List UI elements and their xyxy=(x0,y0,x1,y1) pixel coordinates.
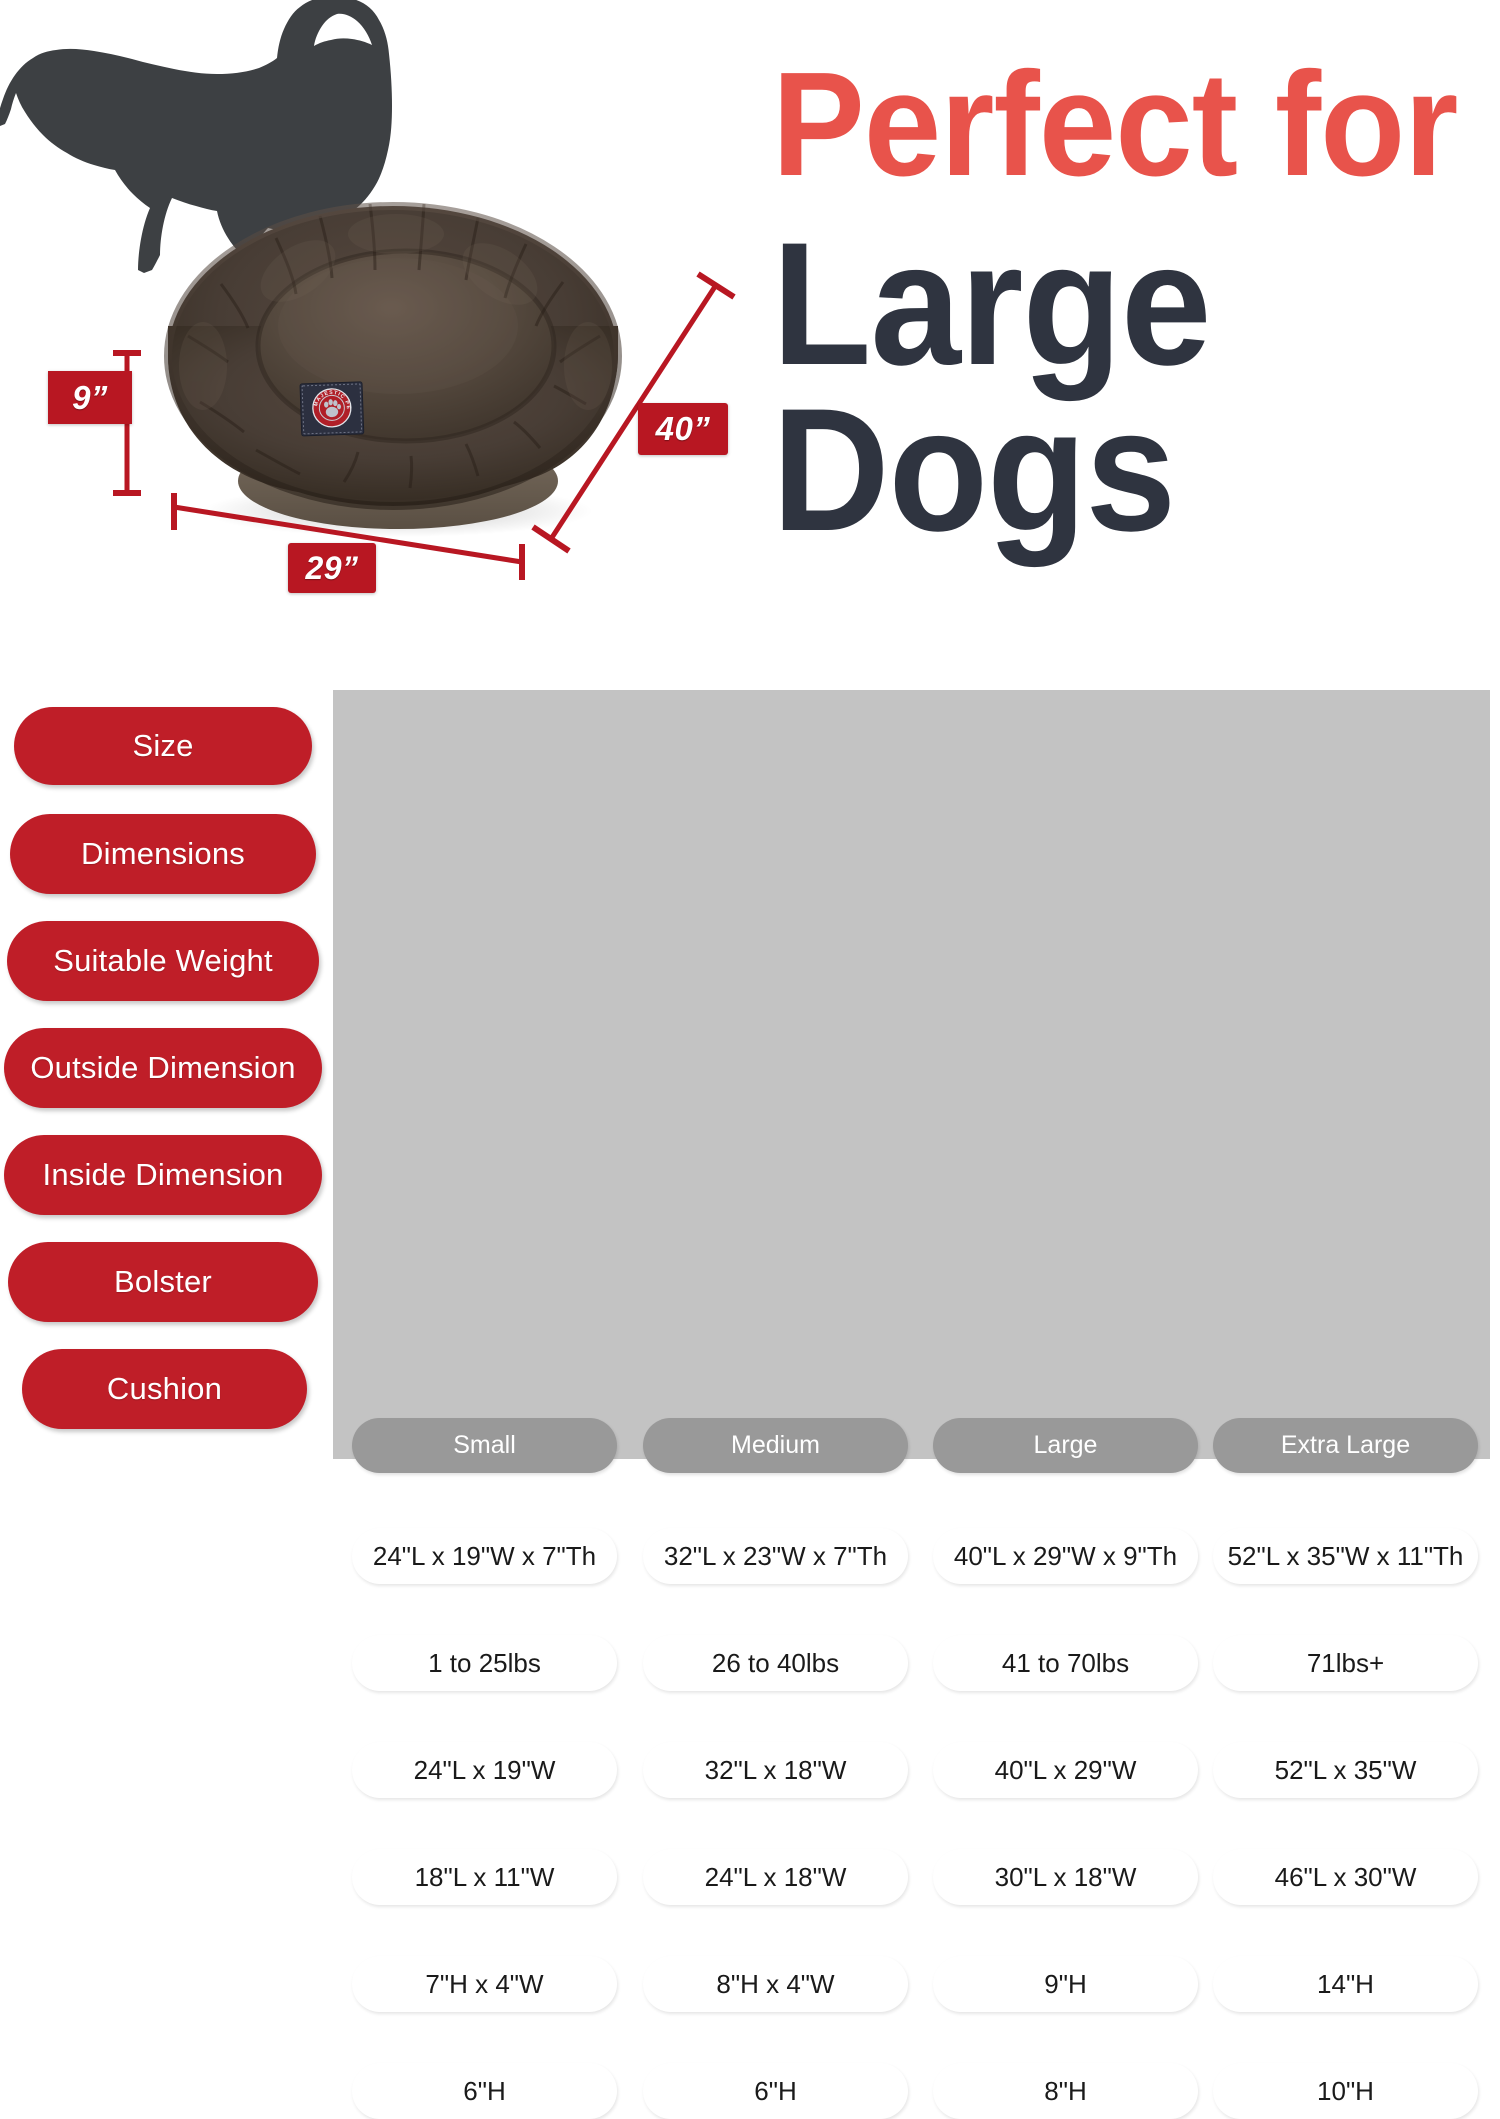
row-label-bolster: Bolster xyxy=(8,1242,318,1322)
table-cell: 8"H x 4"W xyxy=(643,1956,908,2012)
table-cell: 40"L x 29"W x 9"Th xyxy=(933,1528,1198,1584)
page-title: Perfect for Large Dogs xyxy=(772,52,1492,556)
column-header-extra-large: Extra Large xyxy=(1213,1418,1478,1473)
table-cell: 1 to 25lbs xyxy=(352,1635,617,1691)
column-header-medium: Medium xyxy=(643,1418,908,1473)
table-cell: 52"L x 35"W x 11"Th xyxy=(1213,1528,1478,1584)
table-cell: 32"L x 23"W x 7"Th xyxy=(643,1528,908,1584)
table-cell: 52"L x 35"W xyxy=(1213,1742,1478,1798)
table-cell: 6"H xyxy=(352,2063,617,2119)
table-cell: 7"H x 4"W xyxy=(352,1956,617,2012)
column-header-small: Small xyxy=(352,1418,617,1473)
brand-tag: MAJESTIC PET xyxy=(298,378,364,436)
headline-line-2: Large xyxy=(772,219,1442,391)
specification-table: Size Dimensions Suitable Weight Outside … xyxy=(0,690,1500,1459)
table-cell: 26 to 40lbs xyxy=(643,1635,908,1691)
dimension-label-width: 29” xyxy=(288,543,376,593)
table-cell: 30"L x 18"W xyxy=(933,1849,1198,1905)
table-cell: 24"L x 19"W xyxy=(352,1742,617,1798)
headline-line-3: Dogs xyxy=(772,385,1442,557)
row-label-suitable-weight: Suitable Weight xyxy=(7,921,319,1001)
dimension-label-height: 9” xyxy=(48,371,132,424)
row-label-dimensions: Dimensions xyxy=(10,814,316,894)
row-label-cushion: Cushion xyxy=(22,1349,307,1429)
table-cell: 71lbs+ xyxy=(1213,1635,1478,1691)
table-cell: 6"H xyxy=(643,2063,908,2119)
table-cell: 24"L x 19"W x 7"Th xyxy=(352,1528,617,1584)
row-label-inside-dimension: Inside Dimension xyxy=(4,1135,322,1215)
dimension-label-length: 40” xyxy=(638,403,728,455)
table-cell: 40"L x 29"W xyxy=(933,1742,1198,1798)
table-cell: 10"H xyxy=(1213,2063,1478,2119)
table-cell: 24"L x 18"W xyxy=(643,1849,908,1905)
table-cell: 32"L x 18"W xyxy=(643,1742,908,1798)
table-cell: 8"H xyxy=(933,2063,1198,2119)
table-cell: 18"L x 11"W xyxy=(352,1849,617,1905)
headline-line-1: Perfect for xyxy=(772,52,1449,197)
spec-table-panel xyxy=(333,690,1490,1459)
row-label-outside-dimension: Outside Dimension xyxy=(4,1028,322,1108)
table-cell: 9"H xyxy=(933,1956,1198,2012)
column-header-large: Large xyxy=(933,1418,1198,1473)
table-cell: 14"H xyxy=(1213,1956,1478,2012)
table-cell: 41 to 70lbs xyxy=(933,1635,1198,1691)
hero-section: MAJESTIC PET 9” 40” 29” Perfect for Larg… xyxy=(0,0,1500,690)
row-label-size: Size xyxy=(14,707,312,785)
table-cell: 46"L x 30"W xyxy=(1213,1849,1478,1905)
